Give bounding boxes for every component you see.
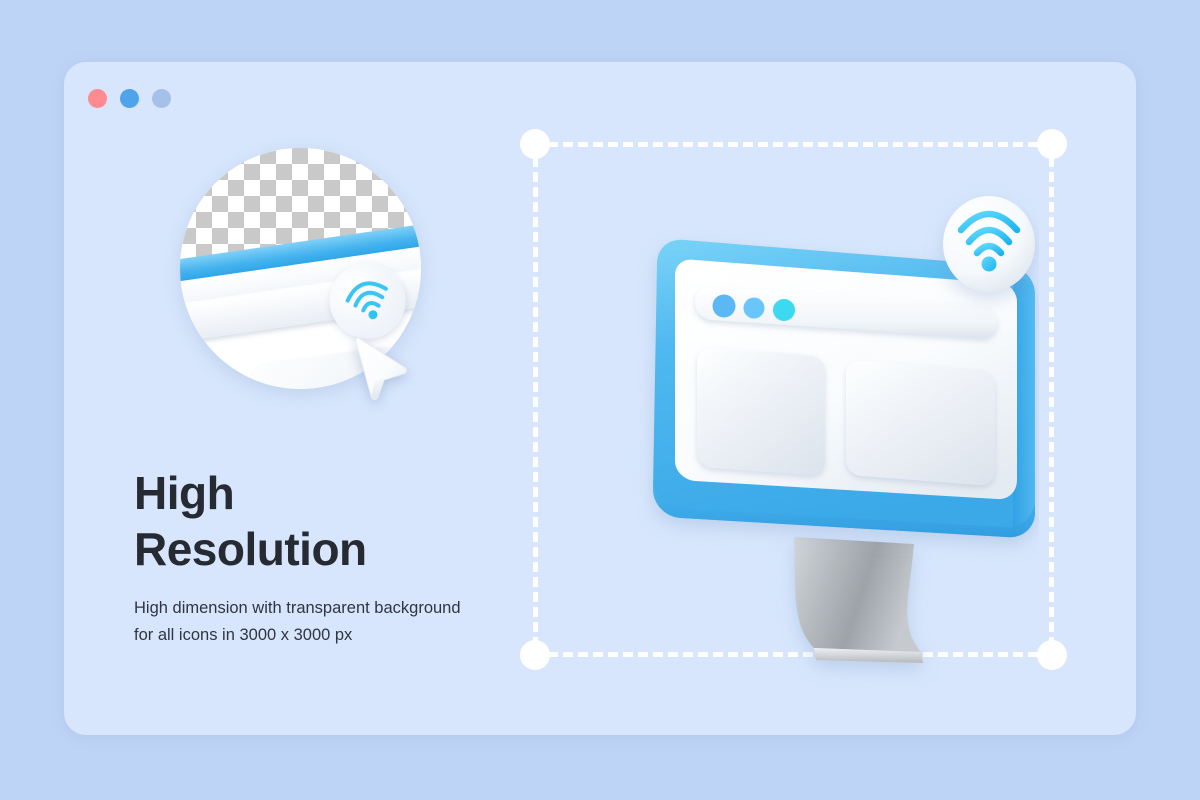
wifi-badge [943,196,1035,292]
close-button[interactable] [88,89,107,108]
resize-handle-bottom-right[interactable] [1037,640,1067,670]
resize-handle-bottom-left[interactable] [520,640,550,670]
resize-handle-top-right[interactable] [1037,129,1067,159]
headline-line-2: Resolution [134,521,554,577]
selection-edge-right [1049,142,1054,657]
monitor-stand [794,537,923,663]
titlebar-dot-1 [713,295,736,318]
monitor-illustration [569,182,1039,692]
maximize-button[interactable] [152,89,171,108]
titlebar-dot-3 [773,299,795,321]
preview-card: High Resolution High dimension with tran… [64,62,1136,735]
page-description: High dimension with transparent backgrou… [134,595,474,649]
titlebar-dot-2 [744,298,765,319]
selection-edge-top [533,142,1054,147]
wifi-dot [982,257,997,272]
selection-edge-left [533,142,538,657]
minimize-button[interactable] [120,89,139,108]
page-title: High Resolution [134,465,554,577]
zoomed-content-panel-left [180,362,252,389]
content-panel-left [697,348,825,475]
pointer-cursor-icon [351,334,421,406]
headline-line-1: High [134,465,554,521]
resize-handle-top-left[interactable] [520,129,550,159]
window-controls [88,89,171,108]
wifi-icon [337,268,400,331]
wifi-dot [367,309,378,320]
content-panel-right [846,361,995,485]
